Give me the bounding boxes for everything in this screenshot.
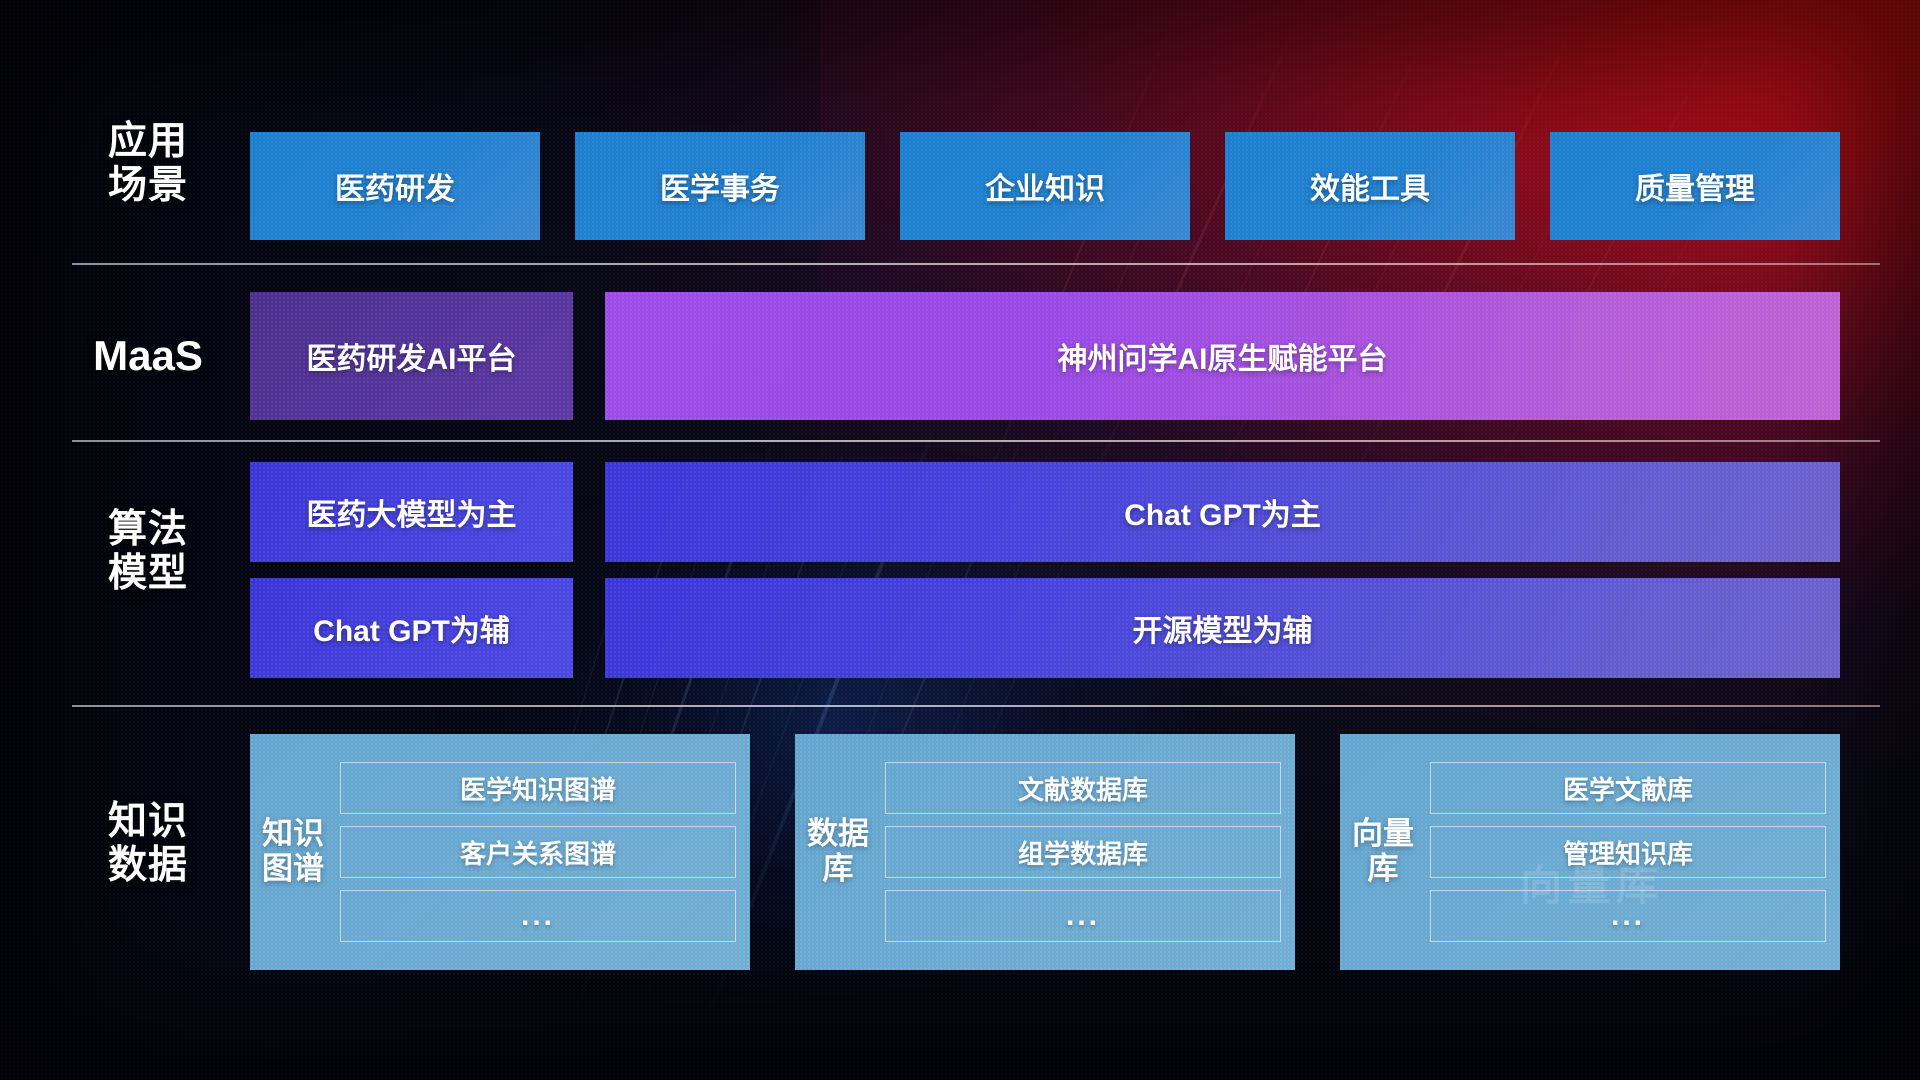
knowledge-panel-database[interactable]: 数据库 文献数据库 组学数据库 ... [795,734,1295,970]
algorithm-card-label: Chat GPT为辅 [313,606,510,650]
algorithm-card-chatgpt-primary[interactable]: Chat GPT为主 [605,462,1840,562]
knowledge-panel-item-more[interactable]: ... [1430,890,1826,942]
knowledge-panel-item[interactable]: 医学文献库 [1430,762,1826,814]
maas-platform-card-shenzhou[interactable]: 神州问学AI原生赋能平台 [605,292,1840,420]
maas-platform-label: 神州问学AI原生赋能平台 [1058,334,1388,378]
algorithm-card-label: 医药大模型为主 [307,490,517,534]
app-scenario-label: 企业知识 [985,164,1105,208]
knowledge-panel-item-list: 文献数据库 组学数据库 ... [871,762,1281,942]
knowledge-panel-item[interactable]: 组学数据库 [885,826,1281,878]
knowledge-panel-vertical-label: 知识图谱 [260,817,326,886]
row-label-line1: MaaS [68,332,228,380]
knowledge-panel-knowledge-graph[interactable]: 知识图谱 医学知识图谱 客户关系图谱 ... [250,734,750,970]
row-label-line1: 应用 [68,120,228,164]
app-scenario-card-4[interactable]: 效能工具 [1225,132,1515,240]
row-label-line2: 数据 [68,844,228,888]
algorithm-card-opensource-secondary[interactable]: 开源模型为辅 [605,578,1840,678]
app-scenario-card-1[interactable]: 医药研发 [250,132,540,240]
row-label-maas: MaaS [68,332,228,380]
app-scenario-card-5[interactable]: 质量管理 [1550,132,1840,240]
app-scenario-label: 效能工具 [1310,164,1430,208]
knowledge-panel-item[interactable]: 文献数据库 [885,762,1281,814]
row-divider-2 [72,440,1880,442]
knowledge-panel-vertical-label: 向量库 [1350,817,1416,886]
app-scenario-card-2[interactable]: 医学事务 [575,132,865,240]
app-scenario-label: 质量管理 [1635,164,1755,208]
algorithm-card-label: Chat GPT为主 [1124,490,1321,534]
app-scenario-card-3[interactable]: 企业知识 [900,132,1190,240]
knowledge-panel-item[interactable]: 管理知识库 [1430,826,1826,878]
knowledge-panel-item-list: 医学文献库 管理知识库 ... [1416,762,1826,942]
knowledge-panel-vector-store[interactable]: 向量库 向量库 医学文献库 管理知识库 ... [1340,734,1840,970]
maas-platform-label: 医药研发AI平台 [307,334,517,378]
app-scenario-label: 医药研发 [335,164,455,208]
row-label-line2: 场景 [68,164,228,208]
algorithm-card-medical-primary[interactable]: 医药大模型为主 [250,462,573,562]
row-label-algorithm-models: 算法 模型 [68,508,228,597]
knowledge-panel-item-list: 医学知识图谱 客户关系图谱 ... [326,762,736,942]
knowledge-panel-item-more[interactable]: ... [340,890,736,942]
row-divider-1 [72,263,1880,265]
maas-platform-card-medical[interactable]: 医药研发AI平台 [250,292,573,420]
row-label-line1: 算法 [68,508,228,552]
row-label-application-scenarios: 应用 场景 [68,120,228,209]
app-scenario-label: 医学事务 [660,164,780,208]
knowledge-panel-item[interactable]: 客户关系图谱 [340,826,736,878]
knowledge-panel-item-more[interactable]: ... [885,890,1281,942]
row-label-line1: 知识 [68,800,228,844]
algorithm-card-chatgpt-secondary[interactable]: Chat GPT为辅 [250,578,573,678]
row-label-knowledge-data: 知识 数据 [68,800,228,889]
knowledge-panel-vertical-label: 数据库 [805,817,871,886]
slide-canvas: 应用 场景 MaaS 算法 模型 知识 数据 医药研发 医学事务 企业 [0,0,1920,1080]
row-divider-3 [72,705,1880,707]
knowledge-panel-item[interactable]: 医学知识图谱 [340,762,736,814]
row-label-line2: 模型 [68,552,228,596]
algorithm-card-label: 开源模型为辅 [1133,606,1313,650]
